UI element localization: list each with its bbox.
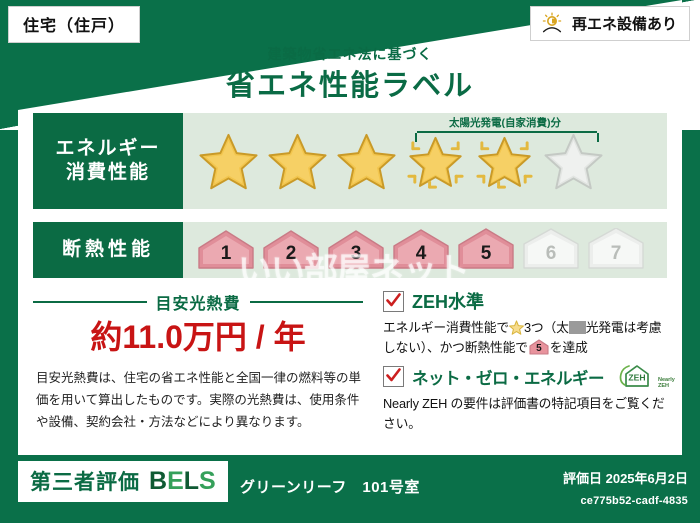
net-zero-energy-description: Nearly ZEH の要件は評価書の特記項目をご覧ください。: [383, 394, 673, 435]
net-zero-energy-header: ネット・ゼロ・エネルギー ZEH Nearly ZEH: [383, 363, 673, 390]
building-type-pill: 住宅（住戸）: [8, 6, 140, 43]
energy-performance-row: エネルギー 消費性能 太陽光発電(自家消費)分: [33, 113, 667, 209]
insulation-level-5-label: 5: [455, 228, 517, 272]
insulation-level-4-label: 4: [390, 228, 452, 272]
cost-heading-label: 目安光熱費: [156, 290, 241, 314]
zeh-house-logo-icon: ZEH Nearly ZEH: [616, 363, 675, 390]
insulation-level-3-label: 3: [325, 228, 387, 272]
star-rating: [183, 130, 605, 193]
svg-text:ZEH: ZEH: [628, 373, 645, 383]
insulation-level-7: 7: [585, 228, 647, 272]
insulation-level-2: 2: [260, 228, 322, 272]
net-zero-energy-title: ネット・ゼロ・エネルギー: [412, 365, 604, 389]
evaluation-code: ce775b52-cadf-4835: [580, 495, 688, 507]
evaluation-date: 評価日 2025年6月2日: [563, 468, 688, 487]
bels-wordmark: BELS: [149, 467, 216, 496]
bels-jp-label: 第三者評価: [30, 466, 140, 496]
star-icon-6-empty: [542, 130, 605, 193]
insulation-performance-row: 断熱性能 1 2 3 4: [33, 222, 667, 278]
insulation-levels-area: 1 2 3 4 5: [183, 222, 667, 278]
insulation-level-2-label: 2: [260, 228, 322, 272]
cost-heading-rule-left: [33, 301, 147, 303]
zeh-standard-title: ZEH水準: [412, 288, 484, 314]
zeh-standard-header: ZEH水準: [383, 288, 673, 314]
utility-cost-value: 約11.0万円 / 年: [33, 312, 363, 358]
bels-energy-label: 住宅（住戸） 再エネ設備あり 建築物省エネ法に基づく 省エネ性能ラベル: [0, 0, 700, 523]
zeh-desc-part4: を達成: [550, 340, 588, 355]
zeh-standard-description: エネルギー消費性能で3つ（太光発電は考慮しない）、かつ断熱性能で5を達成: [383, 318, 673, 359]
utility-cost-note: 目安光熱費は、住宅の省エネ性能と全国一律の燃料等の単価を用いて算出したものです。…: [36, 368, 366, 434]
building-name: グリーンリーフ 101号室: [240, 476, 420, 497]
zeh-desc-part2: 3つ（太: [524, 320, 569, 335]
insulation-heading: 断熱性能: [33, 222, 183, 278]
bels-letter-e: E: [167, 467, 184, 495]
renewable-badge-label: 再エネ設備あり: [572, 13, 677, 34]
insulation-level-7-label: 7: [585, 228, 647, 272]
star-icon-inline: [509, 320, 524, 335]
sun-icon: [541, 12, 565, 34]
bels-certification-pill: 第三者評価 BELS: [18, 461, 228, 502]
star-icon-1: [197, 130, 260, 193]
house-badge-icon: 5: [528, 339, 550, 356]
energy-performance-stars-area: 太陽光発電(自家消費)分: [183, 113, 667, 209]
energy-heading-line2: 消費性能: [55, 161, 160, 185]
star-icon-4-solar: [404, 130, 467, 193]
zeh-desc-part1: エネルギー消費性能で: [383, 320, 509, 335]
energy-performance-heading: エネルギー 消費性能: [33, 113, 183, 209]
insulation-level-5: 5: [455, 228, 517, 272]
insulation-level-6: 6: [520, 228, 582, 272]
label-title: 省エネ性能ラベル: [0, 62, 700, 104]
zeh-logo-subtext: Nearly ZEH: [658, 378, 675, 390]
zeh-standard-checkbox[interactable]: [383, 291, 404, 312]
solar-bracket-label: 太陽光発電(自家消費)分: [410, 115, 600, 130]
bels-letter-s: S: [199, 467, 216, 495]
insulation-level-scale: 1 2 3 4 5: [183, 228, 647, 272]
insulation-level-6-label: 6: [520, 228, 582, 272]
cost-heading-rule-right: [250, 301, 364, 303]
label-subtitle: 建築物省エネ法に基づく: [0, 44, 700, 64]
redaction-block: [569, 321, 586, 334]
star-icon-2: [266, 130, 329, 193]
renewable-equipment-badge: 再エネ設備あり: [530, 6, 690, 41]
evaluation-date-value: 2025年6月2日: [606, 471, 688, 486]
energy-heading-line1: エネルギー: [55, 137, 160, 161]
bels-letter-b: B: [149, 467, 167, 495]
bels-letter-l: L: [184, 467, 199, 495]
net-zero-energy-block: ネット・ゼロ・エネルギー ZEH Nearly ZEH Nearly ZEH の…: [383, 363, 673, 435]
evaluation-date-label: 評価日: [563, 471, 602, 486]
utility-cost-heading: 目安光熱費: [33, 290, 363, 314]
insulation-level-1: 1: [195, 228, 257, 272]
star-icon-3: [335, 130, 398, 193]
insulation-level-4: 4: [390, 228, 452, 272]
zeh-standard-block: ZEH水準 エネルギー消費性能で3つ（太光発電は考慮しない）、かつ断熱性能で5を…: [383, 288, 673, 359]
zeh-logo-sub-line2: ZEH: [658, 383, 669, 389]
insulation-level-3: 3: [325, 228, 387, 272]
insulation-level-1-label: 1: [195, 228, 257, 272]
house-badge-level: 5: [528, 339, 550, 356]
net-zero-energy-checkbox[interactable]: [383, 366, 404, 387]
star-icon-5-solar: [473, 130, 536, 193]
